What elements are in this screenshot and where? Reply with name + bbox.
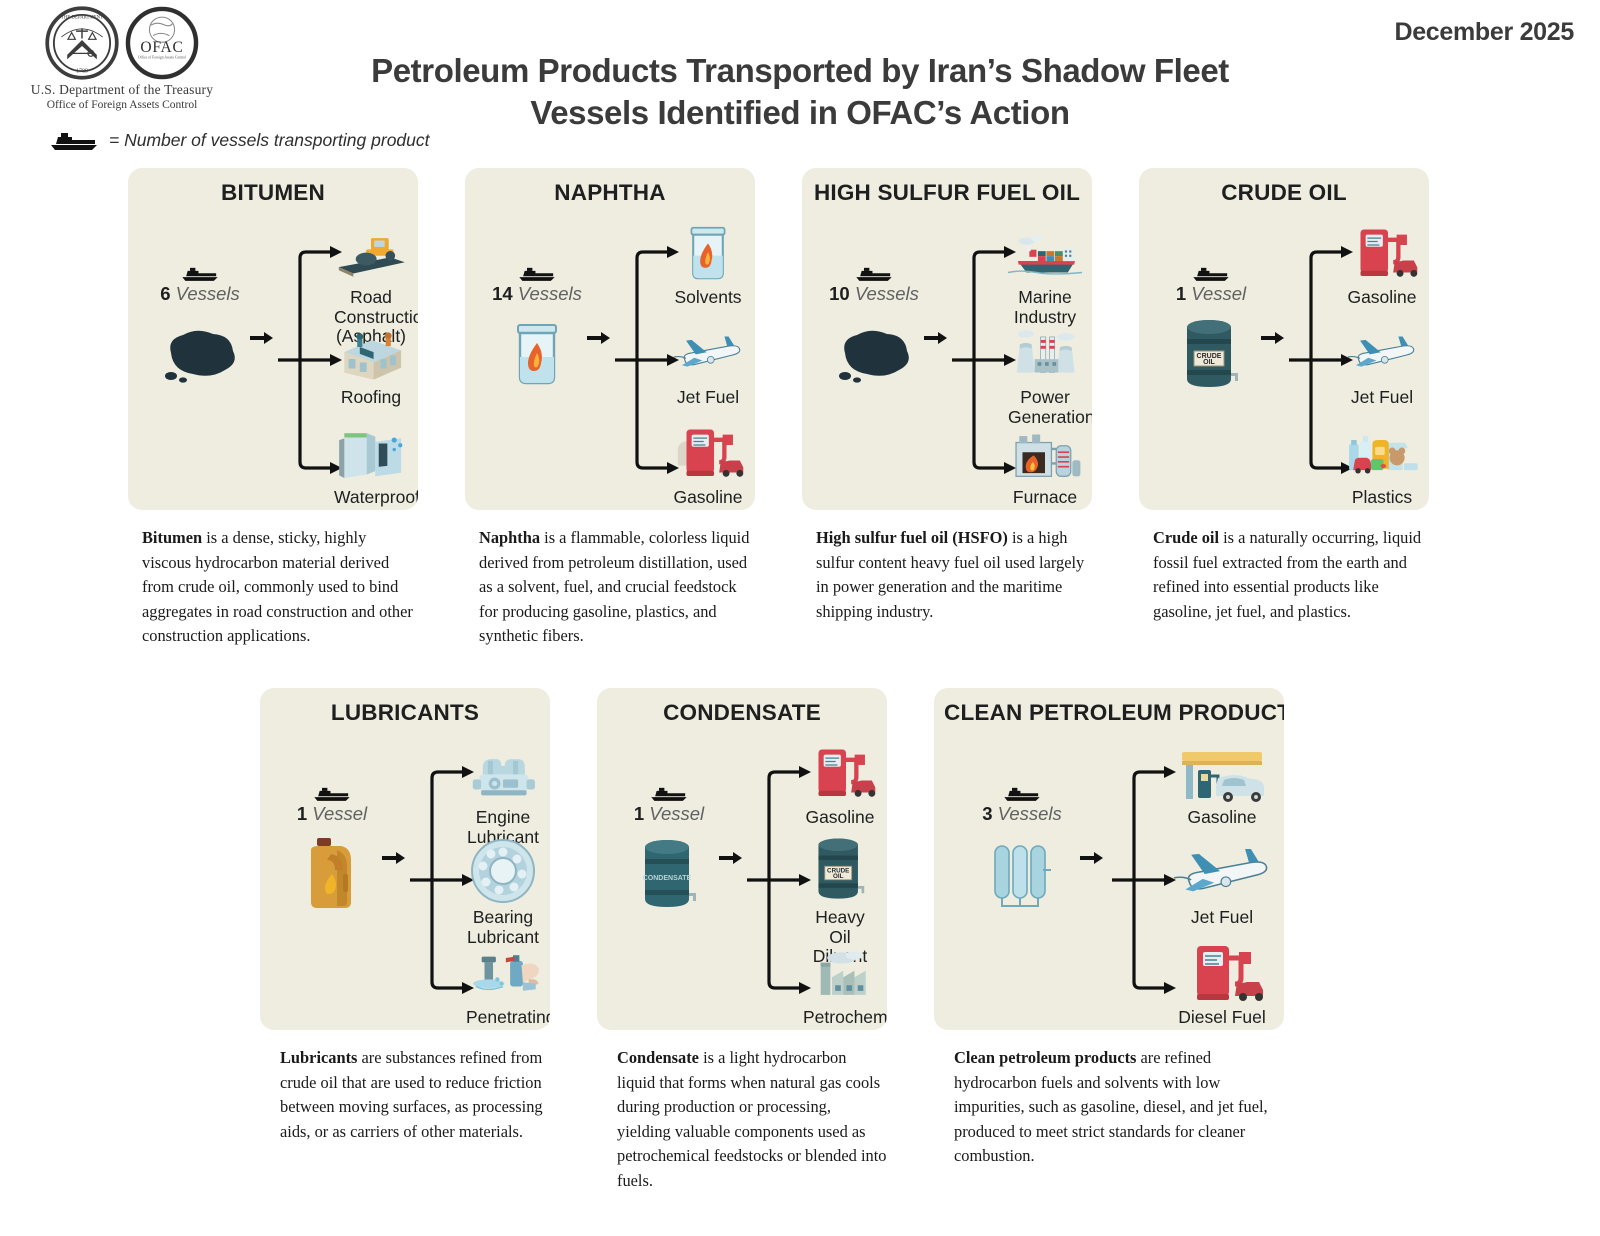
page-header: THE DEPARTMENT 1789 OFAC Office of Forei… <box>0 0 1600 160</box>
card-body-bitumen: 6 Vessels <box>138 208 408 508</box>
description-term: Bitumen <box>142 528 202 547</box>
output-icon-airplane-icon <box>1345 312 1419 384</box>
card-title-condensate: CONDENSATE <box>607 700 877 726</box>
output-item: Jet Fuel <box>671 312 745 408</box>
vessel-icon <box>1191 266 1231 282</box>
vessel-count-bitumen: 6 Vessels <box>160 283 240 305</box>
vessel-count-number: 10 <box>829 283 850 304</box>
outputs-condensate: Gasoline C <box>803 728 877 1028</box>
source-icon-crude-oil-barrel-icon: CRUDE OIL <box>1155 315 1267 393</box>
output-item: Bearing Lubricant <box>466 832 540 947</box>
output-icon-engine-icon <box>466 732 540 804</box>
product-card-clean-petroleum-products[interactable]: CLEAN PETROLEUM PRODUCTS 3 Vessels <box>934 688 1284 1030</box>
description-term: High sulfur fuel oil (HSFO) <box>816 528 1008 547</box>
output-icon-spray-can-bolt-icon <box>466 932 540 1004</box>
card-row-2: LUBRICANTS 1 Vessel <box>260 688 1284 1194</box>
vessel-count-clean-petroleum-products: 3 Vessels <box>982 803 1062 825</box>
output-icon-roofing-building-icon <box>334 312 408 384</box>
card-description-bitumen: Bitumen is a dense, sticky, highly visco… <box>128 526 418 649</box>
svg-text:OIL: OIL <box>833 873 844 880</box>
vessel-icon <box>854 266 894 282</box>
output-icon-road-roller-icon <box>334 212 408 284</box>
vessel-count-number: 6 <box>160 283 170 304</box>
output-item: Gasoline <box>803 732 877 828</box>
vessel-icon <box>1002 786 1042 802</box>
agency-name-secondary: Office of Foreign Assets Control <box>22 99 222 111</box>
legend-label: = Number of vessels transporting product <box>109 130 430 151</box>
output-label: Gasoline <box>671 488 745 508</box>
source-group-bitumen: 6 Vessels <box>144 266 256 393</box>
page-title-line-1: Petroleum Products Transported by Iran’s… <box>300 50 1300 92</box>
output-icon-waterproofing-wall-icon <box>334 412 408 484</box>
output-icon-fuel-pump-car-icon <box>671 412 745 484</box>
card-body-hsfo: 10 Vessels <box>812 208 1082 508</box>
vessel-count-condensate: 1 Vessel <box>634 803 704 825</box>
treasury-seal-icon: THE DEPARTMENT 1789 <box>45 6 119 80</box>
outputs-bitumen: Road Construction (Asphalt) <box>334 208 408 508</box>
legend: = Number of vessels transporting product <box>48 130 430 151</box>
card-title-lubricants: LUBRICANTS <box>270 700 540 726</box>
source-group-condensate: 1 Vessel CONDENSATE <box>613 786 725 913</box>
card-column-crude-oil: CRUDE OIL 1 Vessel <box>1139 168 1429 649</box>
product-card-crude-oil[interactable]: CRUDE OIL 1 Vessel <box>1139 168 1429 510</box>
vessel-icon <box>180 266 220 282</box>
product-card-hsfo[interactable]: HIGH SULFUR FUEL OIL 10 Vessels <box>802 168 1092 510</box>
flow-arrow-icon <box>587 330 611 346</box>
source-icon-condensate-barrel-icon: CONDENSATE <box>613 835 725 913</box>
card-title-hsfo: HIGH SULFUR FUEL OIL <box>812 180 1082 206</box>
outputs-naphtha: Solvents <box>671 208 745 508</box>
output-icon-fuel-pump-car-icon <box>1345 212 1419 284</box>
card-body-condensate: 1 Vessel CONDENSATE <box>607 728 877 1028</box>
output-icon-crude-oil-barrel-icon: CRUDE OIL <box>803 832 877 904</box>
product-card-condensate[interactable]: CONDENSATE 1 Vessel <box>597 688 887 1030</box>
seal-group: THE DEPARTMENT 1789 OFAC Office of Forei… <box>22 6 222 80</box>
vessel-icon <box>517 266 557 282</box>
product-card-bitumen[interactable]: BITUMEN 6 Vessels <box>128 168 418 510</box>
flow-arrow-icon <box>250 330 274 346</box>
output-icon-flammable-beaker-icon <box>671 212 745 284</box>
vessel-count-naphtha: 14 Vessels <box>492 283 582 305</box>
svg-text:Office of Foreign Assets Contr: Office of Foreign Assets Control <box>138 56 186 60</box>
output-label: Furnace & Boilers <box>1008 488 1082 510</box>
card-title-naphtha: NAPHTHA <box>475 180 745 206</box>
card-column-bitumen: BITUMEN 6 Vessels <box>128 168 418 649</box>
output-label: Solvents <box>671 288 745 308</box>
flow-arrow-icon <box>924 330 948 346</box>
vessel-count-number: 3 <box>982 803 992 824</box>
output-item: Engine Lubricant <box>466 732 540 847</box>
output-item: Plastics <box>1345 412 1419 508</box>
svg-text:CONDENSATE: CONDENSATE <box>643 875 692 882</box>
output-item: Gasoline <box>1345 212 1419 308</box>
output-label: Jet Fuel <box>671 388 745 408</box>
product-card-lubricants[interactable]: LUBRICANTS 1 Vessel <box>260 688 550 1030</box>
card-column-clean-petroleum-products: CLEAN PETROLEUM PRODUCTS 3 Vessels <box>934 688 1284 1194</box>
vessel-icon <box>312 786 352 802</box>
svg-text:THE DEPARTMENT: THE DEPARTMENT <box>61 16 103 21</box>
vessel-count-crude-oil: 1 Vessel <box>1176 283 1246 305</box>
card-title-bitumen: BITUMEN <box>138 180 408 206</box>
card-body-clean-petroleum-products: 3 Vessels <box>944 728 1274 1028</box>
card-column-hsfo: HIGH SULFUR FUEL OIL 10 Vessels <box>802 168 1092 649</box>
output-item: Marine Industry <box>1008 212 1082 327</box>
card-body-lubricants: 1 Vessel <box>270 728 540 1028</box>
source-group-hsfo: 10 Vessels <box>818 266 930 393</box>
output-item: Gasoline <box>671 412 745 508</box>
page-title-line-2: Vessels Identified in OFAC’s Action <box>300 92 1300 134</box>
vessel-count-word: Vessels <box>855 283 919 304</box>
output-item: Waterproofing <box>334 412 408 508</box>
source-icon-oil-jug-icon <box>276 835 388 913</box>
output-icon-gas-station-icon <box>1170 732 1274 804</box>
card-row-1: BITUMEN 6 Vessels <box>128 168 1429 649</box>
card-description-hsfo: High sulfur fuel oil (HSFO) is a high su… <box>802 526 1092 624</box>
output-item: Diesel Fuel <box>1170 932 1274 1028</box>
output-label: Gasoline <box>1345 288 1419 308</box>
output-icon-ball-bearing-icon <box>466 832 540 904</box>
card-body-naphtha: 14 Vessels <box>475 208 745 508</box>
svg-text:OFAC: OFAC <box>140 39 183 56</box>
description-term: Crude oil <box>1153 528 1219 547</box>
card-description-condensate: Condensate is a light hydrocarbon liquid… <box>597 1046 887 1194</box>
description-term: Naphtha <box>479 528 540 547</box>
output-icon-airplane-icon <box>671 312 745 384</box>
vessel-count-word: Vessel <box>312 803 367 824</box>
ofac-seal-icon: OFAC Office of Foreign Assets Control <box>125 6 199 80</box>
output-label: Plastics <box>1345 488 1419 508</box>
source-group-naphtha: 14 Vessels <box>481 266 593 393</box>
vessel-count-number: 1 <box>297 803 307 824</box>
vessel-icon <box>649 786 689 802</box>
output-item: Roofing <box>334 312 408 408</box>
vessel-count-word: Vessel <box>1191 283 1246 304</box>
output-icon-furnace-boiler-icon <box>1008 412 1082 484</box>
description-term: Clean petroleum products <box>954 1048 1136 1067</box>
vessel-icon <box>48 131 100 151</box>
card-title-crude-oil: CRUDE OIL <box>1149 180 1419 206</box>
vessel-count-hsfo: 10 Vessels <box>829 283 919 305</box>
output-icon-fuel-pump-car-icon <box>803 732 877 804</box>
output-item: Solvents <box>671 212 745 308</box>
output-label: Gasoline <box>1170 808 1274 828</box>
outputs-crude-oil: Gasoline <box>1345 208 1419 508</box>
description-term: Condensate <box>617 1048 699 1067</box>
card-column-naphtha: NAPHTHA 14 Vessels <box>465 168 755 649</box>
output-label: Jet Fuel <box>1170 908 1274 928</box>
output-label: Penetrating Oil <box>466 1008 540 1030</box>
card-column-lubricants: LUBRICANTS 1 Vessel <box>260 688 550 1194</box>
output-item: Gasoline <box>1170 732 1274 828</box>
source-icon-storage-tanks-icon <box>966 835 1078 913</box>
card-column-condensate: CONDENSATE 1 Vessel <box>597 688 887 1194</box>
output-item: Power Generation <box>1008 312 1082 427</box>
outputs-lubricants: Engine Lubricant <box>466 728 540 1028</box>
card-description-naphtha: Naphtha is a flammable, colorless liquid… <box>465 526 755 649</box>
output-icon-airplane-icon <box>1170 832 1274 904</box>
output-icon-container-ship-icon <box>1008 212 1082 284</box>
output-label: Diesel Fuel <box>1170 1008 1274 1028</box>
output-icon-power-plant-icon <box>1008 312 1082 384</box>
infographic-page: THE DEPARTMENT 1789 OFAC Office of Forei… <box>0 0 1600 1236</box>
flow-arrow-icon <box>719 850 743 866</box>
output-label: Jet Fuel <box>1345 388 1419 408</box>
output-icon-fuel-pump-car-icon <box>1170 932 1274 1004</box>
publication-date: December 2025 <box>1394 18 1574 47</box>
page-title: Petroleum Products Transported by Iran’s… <box>300 50 1300 134</box>
vessel-count-number: 1 <box>1176 283 1186 304</box>
output-item: Penetrating Oil <box>466 932 540 1030</box>
source-icon-flammable-beaker-icon <box>481 315 593 393</box>
output-icon-factory-icon <box>803 932 877 1004</box>
source-icon-oil-blob-icon <box>144 315 256 393</box>
vessel-count-word: Vessel <box>649 803 704 824</box>
card-title-clean-petroleum-products: CLEAN PETROLEUM PRODUCTS <box>944 700 1274 726</box>
vessel-count-number: 1 <box>634 803 644 824</box>
agency-name-primary: U.S. Department of the Treasury <box>22 82 222 98</box>
output-item: Petrochemical Feedstock <box>803 932 877 1030</box>
vessel-count-word: Vessels <box>518 283 582 304</box>
card-description-crude-oil: Crude oil is a naturally occurring, liqu… <box>1139 526 1429 624</box>
agency-branding: THE DEPARTMENT 1789 OFAC Office of Forei… <box>22 6 222 111</box>
output-label: Roofing <box>334 388 408 408</box>
vessel-count-lubricants: 1 Vessel <box>297 803 367 825</box>
outputs-hsfo: Marine Industry <box>1008 208 1082 508</box>
output-label: Waterproofing <box>334 488 408 508</box>
source-icon-oil-blob-icon <box>818 315 930 393</box>
product-card-naphtha[interactable]: NAPHTHA 14 Vessels <box>465 168 755 510</box>
source-group-lubricants: 1 Vessel <box>276 786 388 913</box>
vessel-count-word: Vessels <box>998 803 1062 824</box>
flow-arrow-icon <box>382 850 406 866</box>
svg-text:OIL: OIL <box>1203 359 1215 366</box>
output-item: Jet Fuel <box>1345 312 1419 408</box>
source-group-clean-petroleum-products: 3 Vessels <box>966 786 1078 913</box>
flow-arrow-icon <box>1261 330 1285 346</box>
output-icon-plastic-products-icon <box>1345 412 1419 484</box>
card-description-lubricants: Lubricants are substances refined from c… <box>260 1046 550 1144</box>
svg-text:1789: 1789 <box>76 69 88 75</box>
vessel-count-word: Vessels <box>176 283 240 304</box>
output-label: Petrochemical Feedstock <box>803 1008 877 1030</box>
flow-arrow-icon <box>1080 850 1104 866</box>
card-description-clean-petroleum-products: Clean petroleum products are refined hyd… <box>934 1046 1284 1169</box>
output-label: Gasoline <box>803 808 877 828</box>
output-item: Jet Fuel <box>1170 832 1274 928</box>
description-term: Lubricants <box>280 1048 357 1067</box>
card-body-crude-oil: 1 Vessel C <box>1149 208 1419 508</box>
vessel-count-number: 14 <box>492 283 513 304</box>
source-group-crude-oil: 1 Vessel C <box>1155 266 1267 393</box>
description-text: is a light hydrocarbon liquid that forms… <box>617 1048 886 1190</box>
outputs-clean-petroleum-products: Gasoline <box>1170 728 1274 1028</box>
output-item: Furnace & Boilers <box>1008 412 1082 510</box>
